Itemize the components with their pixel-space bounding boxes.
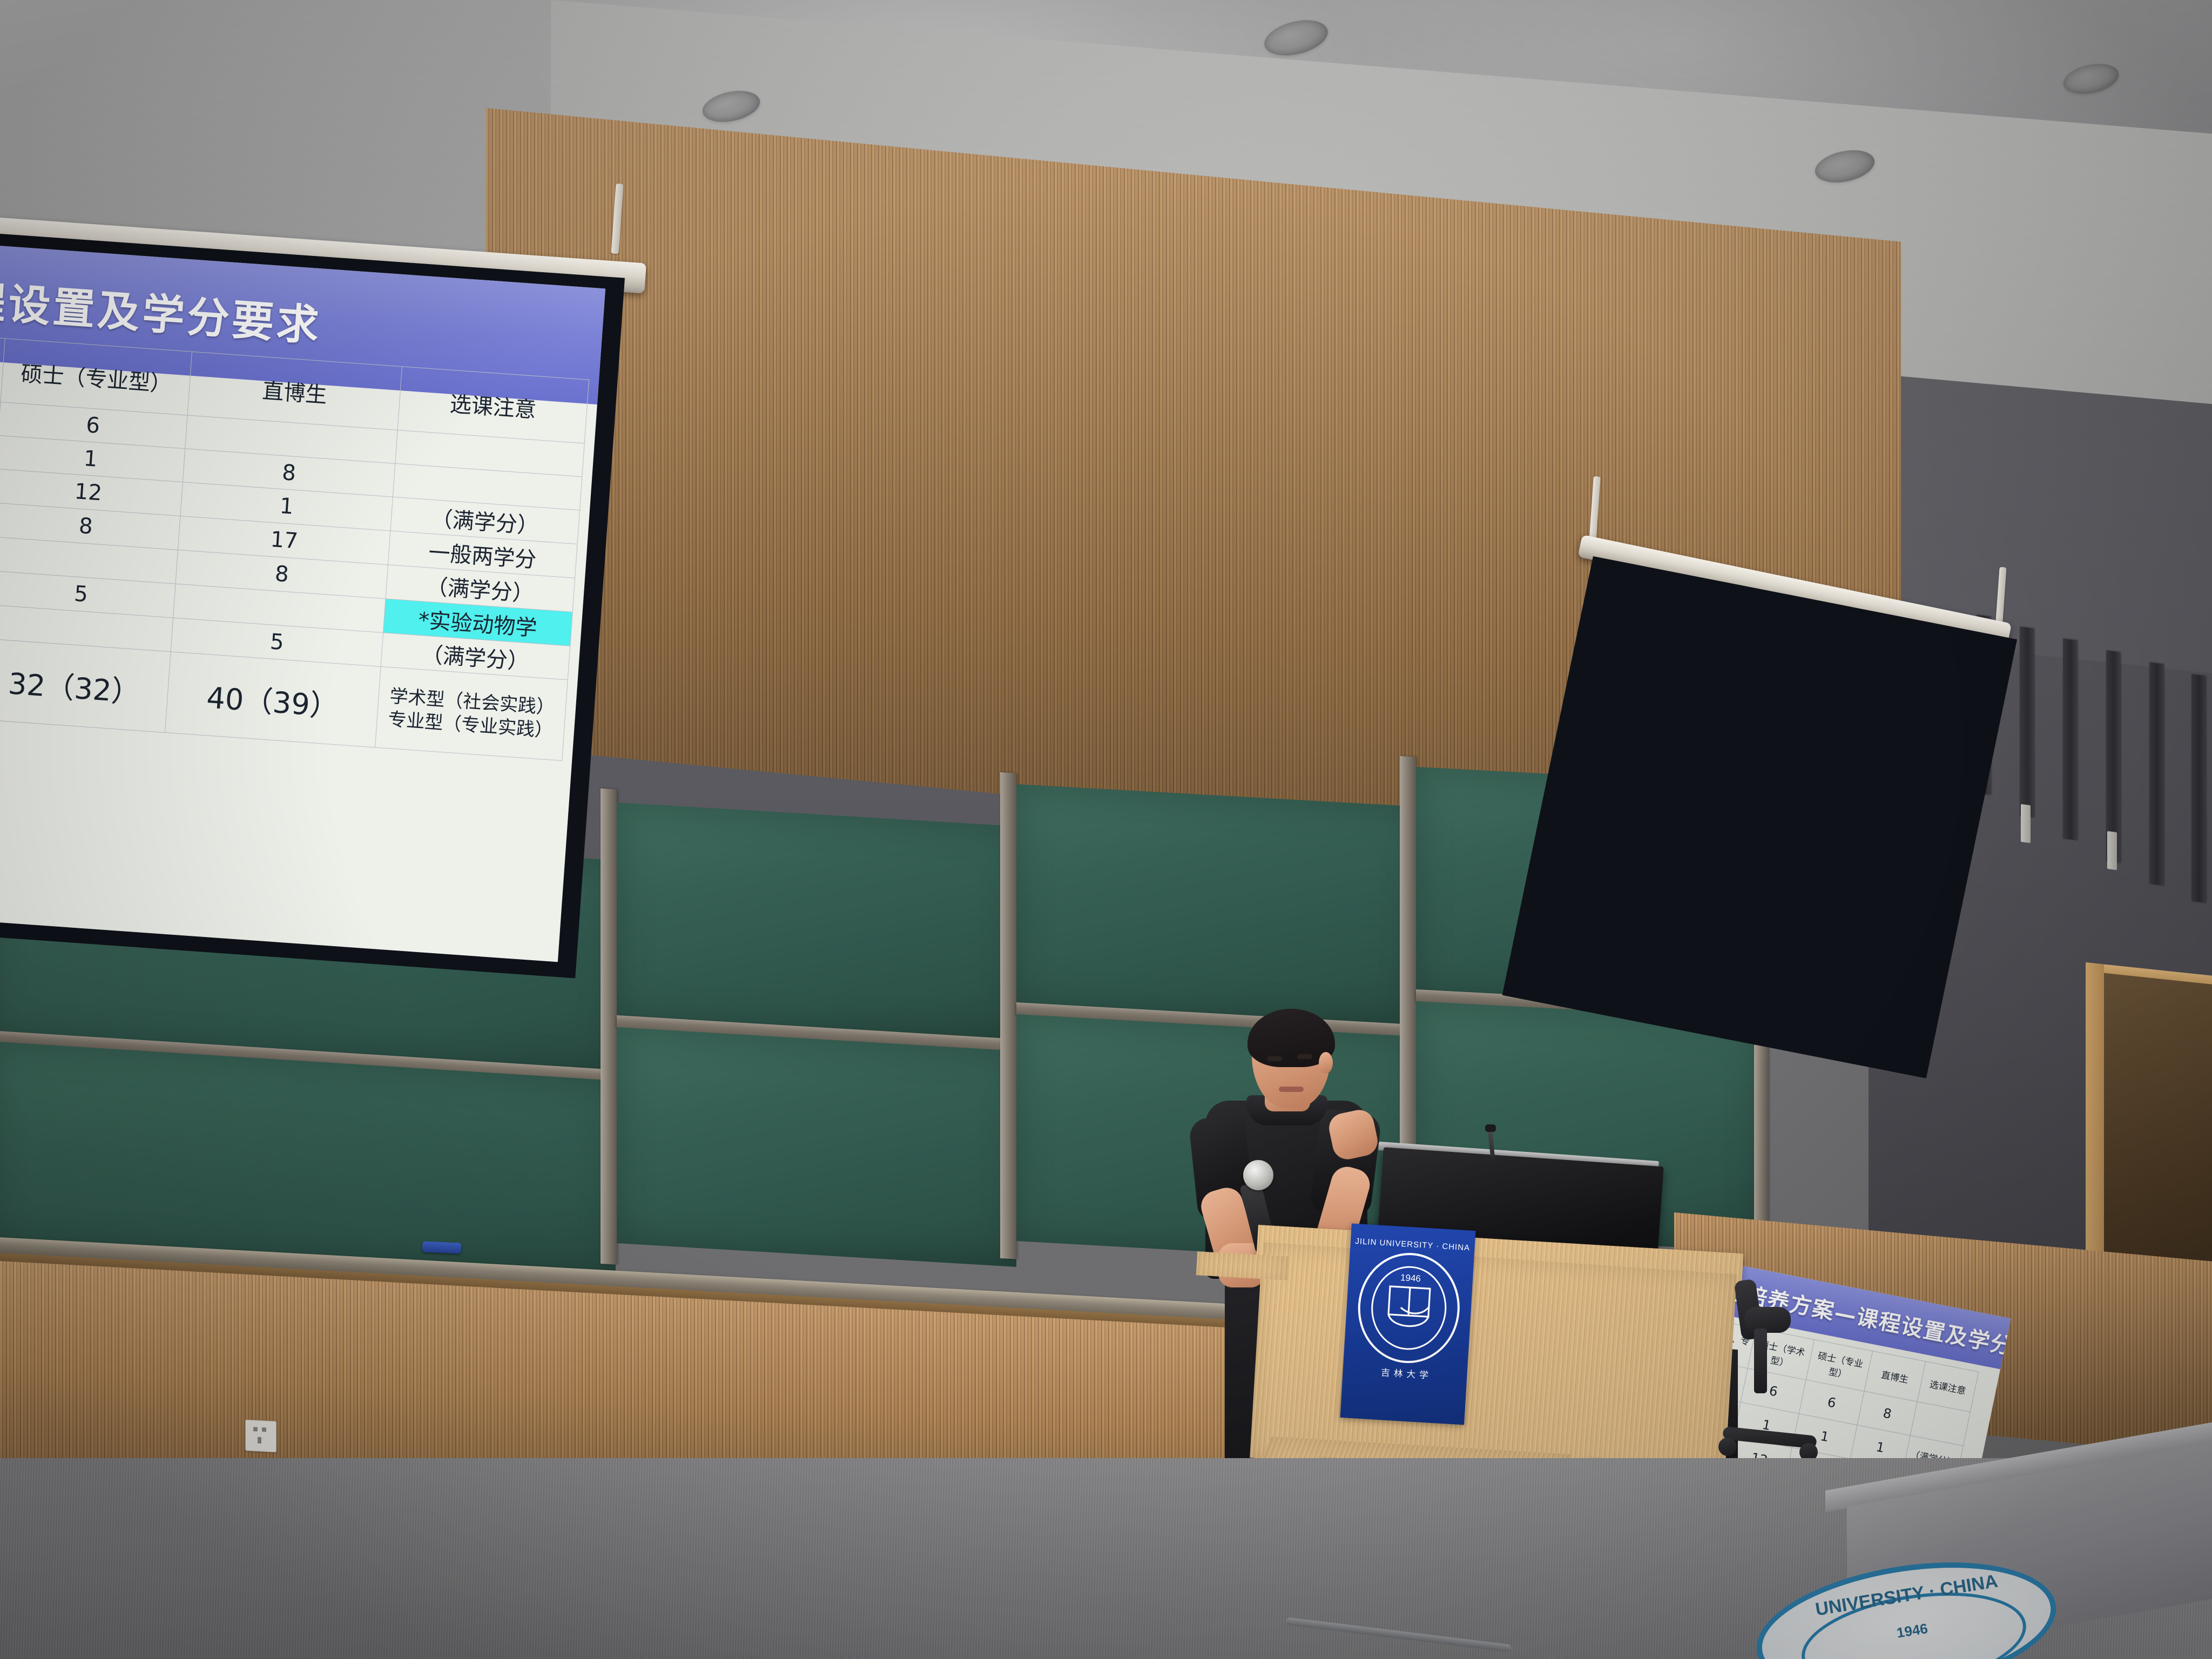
total-notes: 学术型（社会实践） 专业型（专业实践） <box>375 666 568 760</box>
chair-caster <box>1718 1438 1737 1456</box>
screen-border-right <box>1502 556 2017 1078</box>
blackboard-panel-2-lower <box>617 1027 1016 1267</box>
lecture-hall-photo: 程设置及学分要求 型） 硕士（专业型） 直博生 选课注意 6 <box>0 0 2212 1659</box>
wall-fin <box>2191 674 2206 902</box>
presenter-ear <box>1319 1052 1333 1074</box>
left-slide-table-wrap: 型） 硕士（专业型） 直博生 选课注意 6 1 8 <box>0 334 589 761</box>
presenter-eye-left <box>1267 1056 1282 1061</box>
blackboard-eraser[interactable] <box>422 1241 462 1253</box>
blackboard-divider-2 <box>1000 772 1016 1259</box>
wall-fin-accent <box>2107 831 2117 870</box>
blackboard-panel-3-upper <box>1016 784 1416 1028</box>
seal-year-text: 1946 <box>1400 1272 1421 1284</box>
total-direct-phd: 40（39） <box>165 652 381 747</box>
presenter-mouth <box>1279 1087 1304 1092</box>
chair-post <box>1754 1328 1767 1393</box>
chair-seat <box>1744 1307 1791 1333</box>
wall-fin <box>2063 638 2077 840</box>
left-slide-surface: 程设置及学分要求 型） 硕士（专业型） 直博生 选课注意 6 <box>0 244 605 962</box>
presenter-eye-right <box>1297 1054 1312 1059</box>
microphone-head-icon <box>1243 1160 1273 1190</box>
blackboard-panel-2-upper <box>617 802 1016 1042</box>
jilin-university-seal-icon: 1946 <box>1340 1223 1476 1425</box>
left-credits-table: 型） 硕士（专业型） 直博生 选课注意 6 1 8 <box>0 334 589 761</box>
blackboard-divider-1 <box>601 788 617 1265</box>
total-master-professional: 32（32） <box>0 638 171 732</box>
podium-side-shelf <box>1196 1251 1289 1280</box>
wall-fin <box>2149 662 2163 885</box>
wall-fin <box>2020 626 2034 817</box>
gooseneck-microphone-head-icon <box>1485 1124 1496 1132</box>
podium-emblem-plate: 1946 JILIN UNIVERSITY · CHINA 吉 林 大 学 <box>1340 1223 1476 1425</box>
wall-fin-accent <box>2021 804 2031 843</box>
wall-power-outlet[interactable] <box>245 1419 276 1452</box>
